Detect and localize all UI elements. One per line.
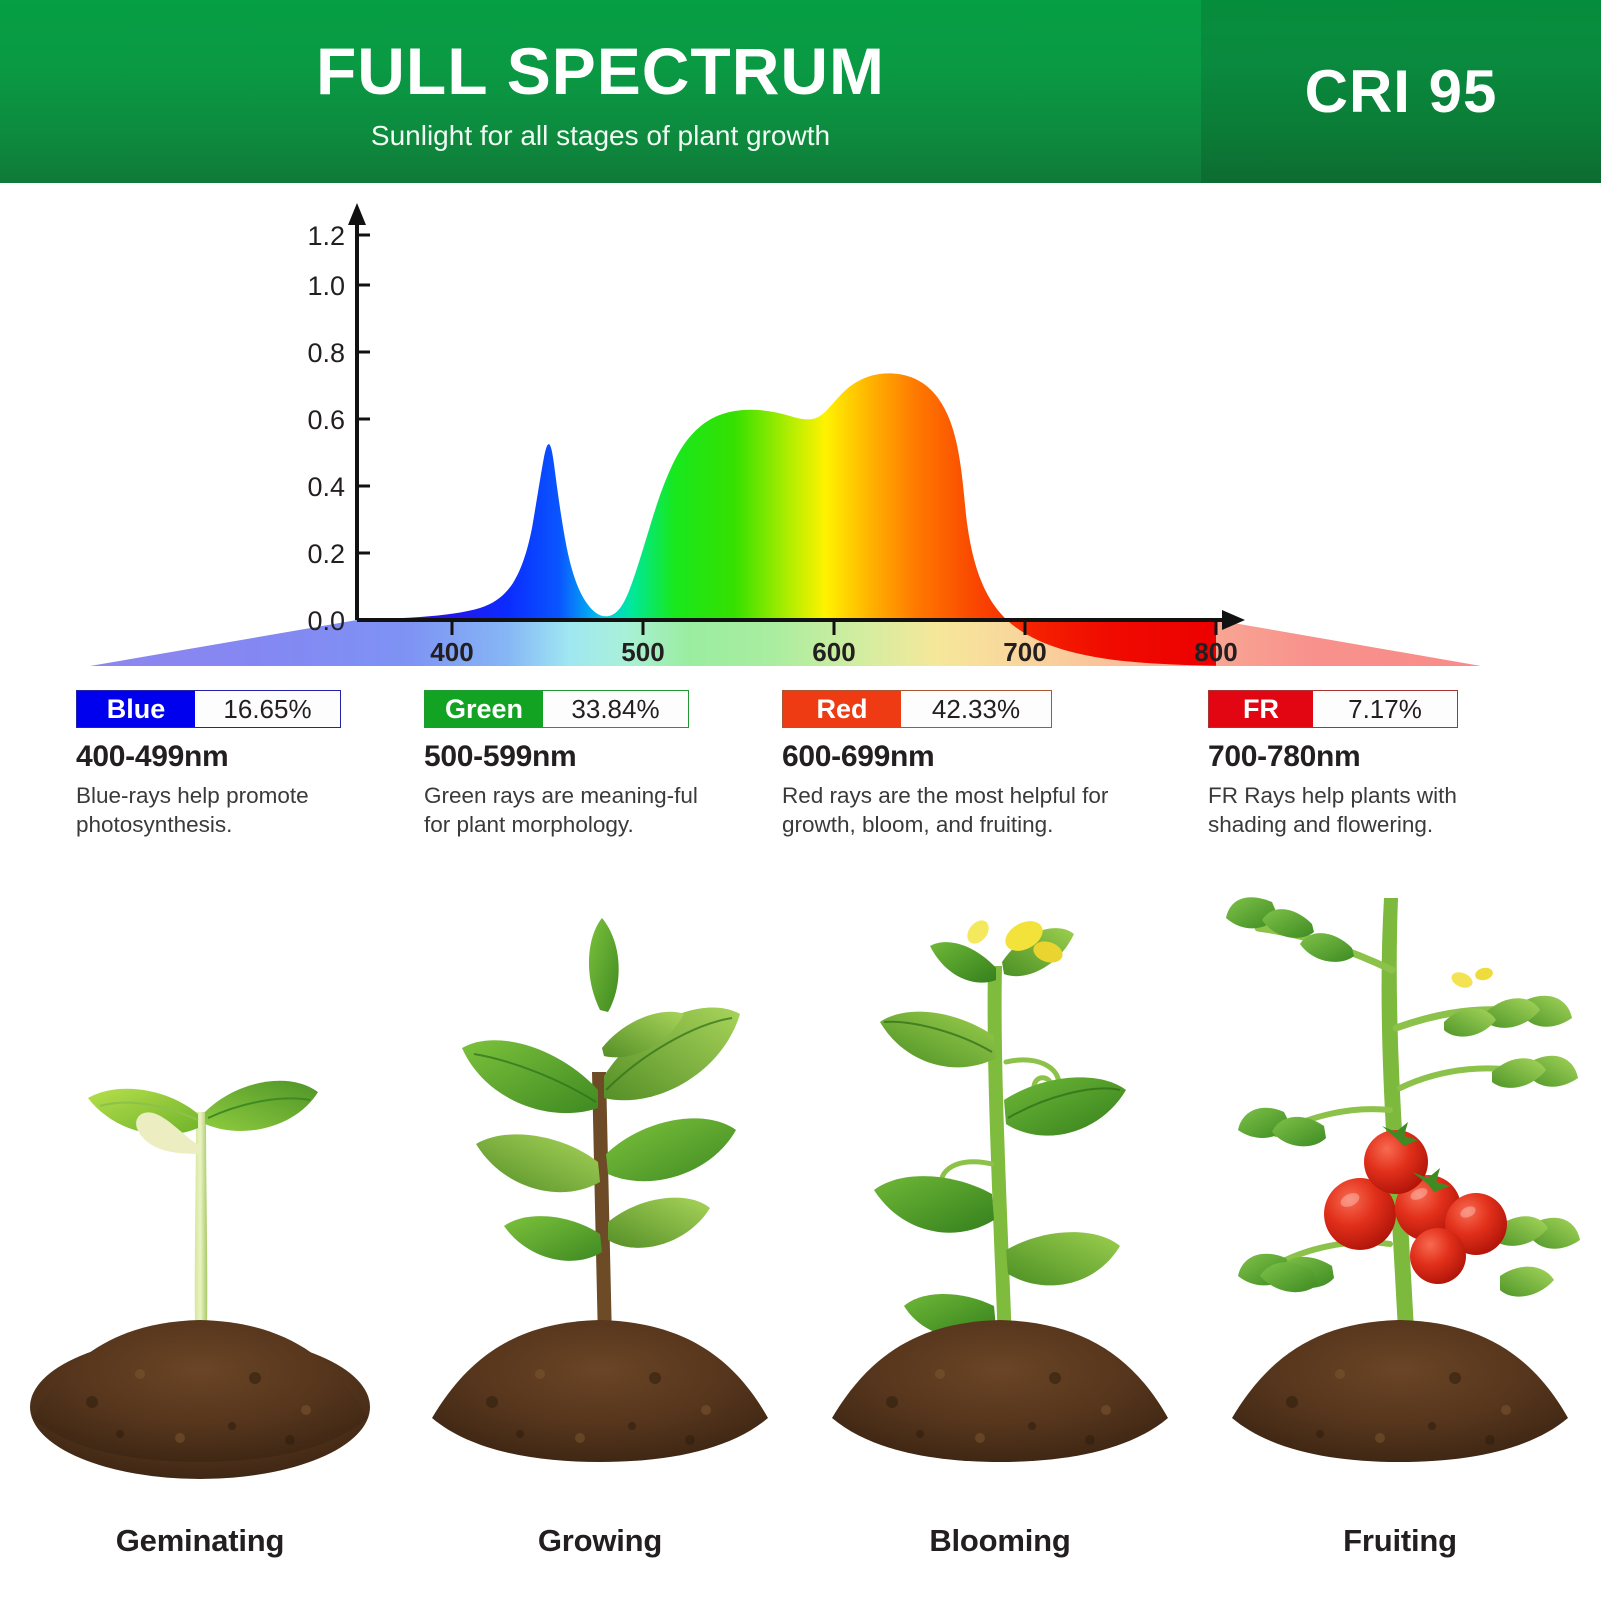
svg-text:0.0: 0.0 [307, 606, 345, 636]
legend-band-percent: 42.33% [901, 691, 1051, 727]
legend-band-name: Red [783, 691, 901, 727]
stage-growing[interactable]: Growing [400, 862, 800, 1601]
header-left-panel: FULL SPECTRUM Sunlight for all stages of… [0, 0, 1201, 183]
svg-text:500: 500 [621, 637, 664, 667]
legend-card-fr[interactable]: FR 7.17% 700-780nm FR Rays help plants w… [1208, 690, 1558, 840]
legend-pill-green: Green 33.84% [424, 690, 689, 728]
legend-band-description: Red rays are the most helpful for growth… [782, 782, 1162, 840]
legend-card-red[interactable]: Red 42.33% 600-699nm Red rays are the mo… [782, 690, 1132, 840]
svg-text:700: 700 [1003, 637, 1046, 667]
svg-text:1.0: 1.0 [307, 271, 345, 301]
stage-blooming[interactable]: Blooming [800, 862, 1200, 1601]
spectrum-legend: Blue 16.65% 400-499nm Blue-rays help pro… [0, 690, 1601, 860]
seedling-sprout-icon [0, 862, 400, 1492]
stage-fruiting[interactable]: Fruiting [1200, 862, 1600, 1601]
young-plant-icon [400, 862, 800, 1492]
tomato-cluster [1324, 1122, 1507, 1284]
svg-text:600: 600 [812, 637, 855, 667]
legend-pill-red: Red 42.33% [782, 690, 1052, 728]
legend-pill-blue: Blue 16.65% [76, 690, 341, 728]
legend-pill-fr: FR 7.17% [1208, 690, 1458, 728]
cri-badge-panel: CRI 95 [1201, 0, 1601, 183]
y-axis-ticks: 0.0 0.2 0.4 0.6 0.8 1.0 1.2 [307, 221, 370, 636]
page-subtitle: Sunlight for all stages of plant growth [371, 120, 830, 152]
tomato-plant-icon [1200, 862, 1600, 1492]
legend-band-percent: 16.65% [195, 691, 340, 727]
legend-band-description: Green rays are meaning-ful for plant mor… [424, 782, 724, 840]
svg-text:0.8: 0.8 [307, 338, 345, 368]
legend-card-green[interactable]: Green 33.84% 500-599nm Green rays are me… [424, 690, 774, 840]
legend-band-name: Blue [77, 691, 195, 727]
svg-text:0.6: 0.6 [307, 405, 345, 435]
spectrum-band [90, 620, 1481, 666]
svg-text:400: 400 [430, 637, 473, 667]
legend-band-range: 700-780nm [1208, 740, 1558, 774]
stage-geminating[interactable]: Geminating [0, 862, 400, 1601]
legend-band-range: 600-699nm [782, 740, 1132, 774]
svg-text:0.4: 0.4 [307, 472, 345, 502]
svg-text:800: 800 [1194, 637, 1237, 667]
legend-card-blue[interactable]: Blue 16.65% 400-499nm Blue-rays help pro… [76, 690, 426, 840]
legend-band-percent: 7.17% [1313, 691, 1457, 727]
legend-band-range: 500-599nm [424, 740, 774, 774]
stage-label: Blooming [800, 1523, 1200, 1559]
cri-badge-label: CRI 95 [1305, 62, 1498, 122]
spectrum-chart: 0.0 0.2 0.4 0.6 0.8 1.0 1.2 400 500 600 … [0, 183, 1601, 683]
stage-label: Fruiting [1200, 1523, 1600, 1559]
growth-stages: Geminating [0, 862, 1601, 1601]
spectrum-chart-svg: 0.0 0.2 0.4 0.6 0.8 1.0 1.2 400 500 600 … [0, 183, 1601, 683]
page-title: FULL SPECTRUM [316, 38, 885, 104]
flowering-vine-icon [800, 862, 1200, 1492]
legend-band-description: Blue-rays help promote photosynthesis. [76, 782, 376, 840]
stage-label: Growing [400, 1523, 800, 1559]
legend-band-percent: 33.84% [543, 691, 688, 727]
legend-band-name: Green [425, 691, 543, 727]
legend-band-description: FR Rays help plants with shading and flo… [1208, 782, 1528, 840]
svg-text:1.2: 1.2 [307, 221, 345, 251]
legend-band-range: 400-499nm [76, 740, 426, 774]
header-banner: FULL SPECTRUM Sunlight for all stages of… [0, 0, 1601, 183]
legend-band-name: FR [1209, 691, 1313, 727]
svg-text:0.2: 0.2 [307, 539, 345, 569]
stage-label: Geminating [0, 1523, 400, 1559]
